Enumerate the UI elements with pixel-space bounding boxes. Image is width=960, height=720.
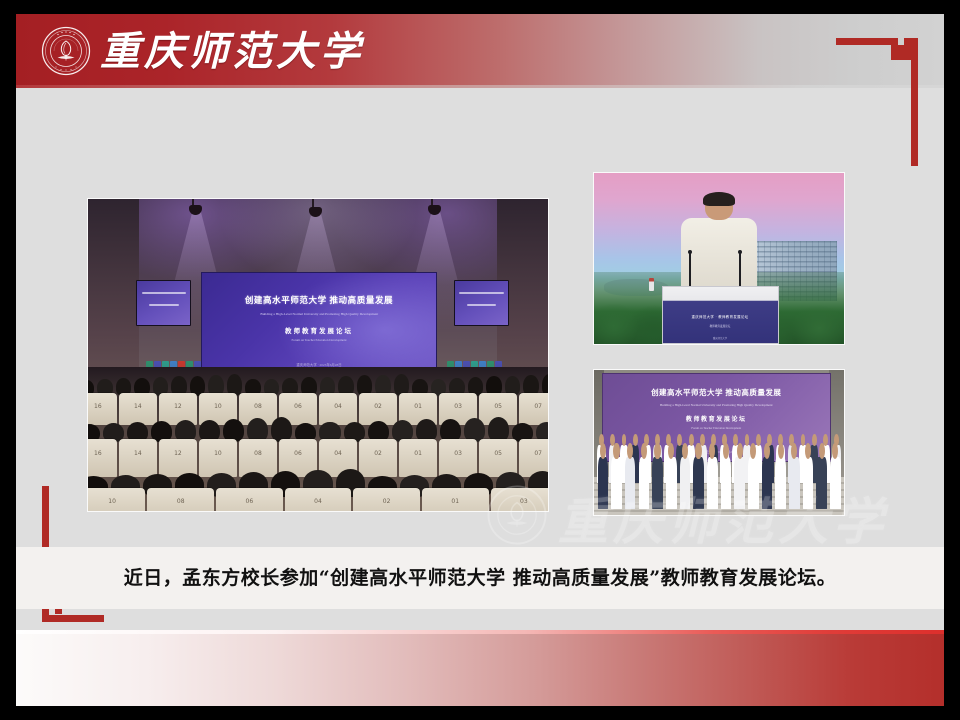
seat-number-label: 10 bbox=[88, 498, 145, 505]
audience-seat: 04 bbox=[285, 488, 352, 511]
group-photo-person bbox=[692, 443, 705, 510]
group-photo-person bbox=[597, 443, 610, 510]
seat-number-label: 16 bbox=[88, 450, 117, 457]
seat-number-label: 14 bbox=[119, 450, 157, 457]
seat-number-label: 03 bbox=[491, 498, 548, 505]
seat-number-label: 06 bbox=[279, 450, 317, 457]
group-photo: 创建高水平师范大学 推动高质量发展 Building a High-Level … bbox=[594, 370, 844, 515]
group-photo-person bbox=[638, 443, 651, 510]
header-underline-divider bbox=[16, 85, 944, 88]
seat-number-label: 06 bbox=[279, 403, 317, 410]
group-photo-person bbox=[665, 443, 678, 510]
podium-footer-text: 重庆师范大学 bbox=[663, 336, 778, 340]
seat-number-label: 03 bbox=[439, 403, 477, 410]
stage-screen-title-en: Building a High-Level Normal University … bbox=[206, 313, 431, 317]
seat-number-label: 08 bbox=[239, 403, 277, 410]
group-photo-person bbox=[774, 443, 787, 510]
group-photo-person bbox=[802, 443, 815, 510]
group-banner-subtitle-en: Forum on Teacher Education Development bbox=[603, 426, 831, 430]
audience-seat: 10 bbox=[88, 488, 145, 511]
group-photo-person bbox=[747, 443, 760, 510]
corner-ornament-top-right-icon bbox=[826, 28, 926, 168]
group-photo-person bbox=[651, 443, 664, 510]
group-photo-person bbox=[610, 443, 623, 510]
podium-logo-text: 重庆师范大学 · 教师教育发展论坛 bbox=[663, 314, 778, 319]
seat-number-label: 10 bbox=[199, 450, 237, 457]
seat-number-label: 07 bbox=[519, 403, 548, 410]
microphone-icon bbox=[689, 253, 691, 287]
slide-root: 重庆师范大学 bbox=[0, 0, 960, 720]
group-banner-title-en: Building a High-Level Normal University … bbox=[603, 403, 831, 407]
seat-number-label: 02 bbox=[359, 403, 397, 410]
audience-seat: 08 bbox=[147, 488, 214, 511]
audience-seat: 03 bbox=[491, 488, 548, 511]
stage-screen-subtitle: 教师教育发展论坛 bbox=[202, 325, 437, 335]
seat-number-label: 10 bbox=[199, 403, 237, 410]
audience-head-row bbox=[88, 416, 548, 442]
group-photo-person bbox=[679, 443, 692, 510]
university-name-title: 重庆师范大学 bbox=[100, 28, 364, 78]
seat-number-label: 01 bbox=[399, 450, 437, 457]
group-photo-person bbox=[624, 443, 637, 510]
group-photo-person bbox=[761, 443, 774, 510]
microphone-icon bbox=[739, 253, 741, 287]
water-bottle-icon bbox=[649, 278, 654, 291]
podium: 重庆师范大学 · 教师教育发展论坛 教师教育发展论坛 重庆师范大学 bbox=[662, 286, 779, 344]
group-banner-subtitle: 教师教育发展论坛 bbox=[603, 414, 831, 423]
seat-number-label: 01 bbox=[399, 403, 437, 410]
seat-number-label: 08 bbox=[239, 450, 277, 457]
seat-number-label: 02 bbox=[353, 498, 420, 505]
seat-number-label: 05 bbox=[479, 450, 517, 457]
seat-number-label: 02 bbox=[359, 450, 397, 457]
seat-number-label: 03 bbox=[439, 450, 477, 457]
seat-number-label: 12 bbox=[159, 450, 197, 457]
seat-number-label: 08 bbox=[147, 498, 214, 505]
seat-number-label: 07 bbox=[519, 450, 548, 457]
audience-seat: 02 bbox=[353, 488, 420, 511]
group-photo-person bbox=[815, 443, 828, 510]
stage-screen-subtitle-en: Forum on Teacher Education Development bbox=[202, 338, 437, 342]
group-banner-title: 创建高水平师范大学 推动高质量发展 bbox=[603, 387, 831, 398]
group-photo-person bbox=[720, 443, 733, 510]
podium-subtitle: 教师教育发展论坛 bbox=[663, 324, 778, 328]
stage-led-screen: 创建高水平师范大学 推动高质量发展 Building a High-Level … bbox=[201, 272, 438, 377]
seat-number-label: 06 bbox=[216, 498, 283, 505]
stage-screen-footer: 重庆师范大学 · 2023年6月28日 bbox=[202, 362, 437, 367]
university-seal-icon bbox=[41, 26, 91, 76]
seat-number-label: 04 bbox=[319, 403, 357, 410]
stage-screen-title: 创建高水平师范大学 推动高质量发展 bbox=[202, 294, 437, 306]
group-photo-person bbox=[788, 443, 801, 510]
seat-number-label: 01 bbox=[422, 498, 489, 505]
seat-number-label: 12 bbox=[159, 403, 197, 410]
group-photo-person bbox=[829, 443, 842, 510]
audience-seat: 06 bbox=[216, 488, 283, 511]
slide-canvas: 重庆师范大学 bbox=[16, 14, 944, 706]
seat-number-label: 05 bbox=[479, 403, 517, 410]
seat-number-label: 04 bbox=[319, 450, 357, 457]
ceiling-lamp-icon bbox=[309, 207, 322, 217]
seat-number-label: 04 bbox=[285, 498, 352, 505]
speaker-at-podium-photo: 重庆师范大学 · 教师教育发展论坛 教师教育发展论坛 重庆师范大学 bbox=[594, 173, 844, 344]
conference-hall-photo: 创建高水平师范大学 推动高质量发展 Building a High-Level … bbox=[88, 199, 548, 511]
side-monitor-right bbox=[454, 280, 509, 326]
side-monitor-left bbox=[136, 280, 191, 326]
group-people-front-row bbox=[597, 443, 842, 510]
seat-number-label: 16 bbox=[88, 403, 117, 410]
group-photo-person bbox=[733, 443, 746, 510]
seat-number-label: 14 bbox=[119, 403, 157, 410]
group-photo-person bbox=[706, 443, 719, 510]
audience-area: 161412100806040201030507 161412100806040… bbox=[88, 367, 548, 511]
audience-seat: 01 bbox=[422, 488, 489, 511]
footer-gradient-band bbox=[16, 634, 944, 706]
speaker-figure bbox=[679, 194, 759, 293]
slide-caption: 近日，孟东方校长参加“创建高水平师范大学 推动高质量发展”教师教育发展论坛。 bbox=[16, 547, 944, 609]
seat-row: 10080604020103 bbox=[88, 488, 548, 511]
